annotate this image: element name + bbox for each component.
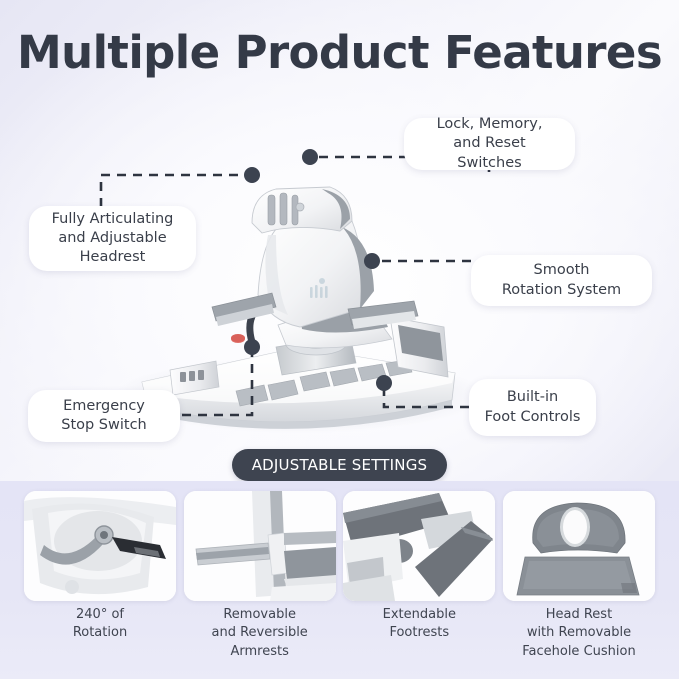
callout-rotation-system[interactable]: Smooth Rotation System: [471, 255, 652, 306]
caption-line-3: Armrests: [184, 643, 336, 661]
marker-dot-emergency: [244, 339, 260, 355]
marker-dot-foot: [376, 375, 392, 391]
callout-foot-controls[interactable]: Built-in Foot Controls: [469, 379, 596, 436]
banner-label: ADJUSTABLE SETTINGS: [252, 456, 428, 474]
callout-line-1: Emergency: [61, 397, 147, 416]
callout-line-2: and Adjustable: [52, 229, 174, 248]
headrest: [252, 187, 352, 233]
callout-line-3: Headrest: [52, 248, 174, 267]
callout-line-1: Smooth: [502, 261, 621, 280]
callout-line-1: Built-in: [485, 388, 581, 407]
headrest-hinge: [268, 193, 298, 225]
infographic-page: Multiple Product Features: [0, 0, 679, 679]
callout-line-2: and Reset Switches: [419, 134, 560, 172]
caption-footrests: Extendable Footrests: [343, 606, 495, 661]
thumbnail-headrest-cushion[interactable]: [503, 491, 655, 601]
seat-rail: [284, 531, 336, 545]
caption-headrest: Head Rest with Removable Facehole Cushio…: [503, 606, 655, 661]
callout-line-2: Rotation System: [502, 281, 621, 300]
callout-line-2: Stop Switch: [61, 416, 147, 435]
caption-line-2: Rotation: [24, 624, 176, 642]
marker-dot-headrest: [244, 167, 260, 183]
caption-line-1: Head Rest: [503, 606, 655, 624]
caption-line-3: Facehole Cushion: [503, 643, 655, 661]
thumbnail-row: [0, 491, 679, 603]
callout-headrest[interactable]: Fully Articulating and Adjustable Headre…: [29, 206, 196, 271]
marker-dot-rotation: [364, 253, 380, 269]
thumbnail-captions: 240° of Rotation Removable and Reversibl…: [0, 606, 679, 661]
marker-dot-lock: [302, 149, 318, 165]
page-title: Multiple Product Features: [0, 26, 679, 79]
thumbnail-rotation-lock[interactable]: [24, 491, 176, 601]
callout-line-2: Foot Controls: [485, 408, 581, 427]
caption-line-1: Extendable: [343, 606, 495, 624]
thumbnail-armrest[interactable]: [184, 491, 336, 601]
callout-lock-memory-reset[interactable]: Lock, Memory, and Reset Switches: [404, 118, 575, 170]
caption-line-2: with Removable: [503, 624, 655, 642]
callout-line-1: Lock, Memory,: [419, 115, 560, 134]
adjustable-settings-banner[interactable]: ADJUSTABLE SETTINGS: [232, 449, 447, 481]
caption-rotation: 240° of Rotation: [24, 606, 176, 661]
callout-line-1: Fully Articulating: [52, 210, 174, 229]
caption-line-1: 240° of: [24, 606, 176, 624]
caption-line-1: Removable: [184, 606, 336, 624]
connector-headrest: [101, 175, 252, 207]
thumbnail-footrest[interactable]: [343, 491, 495, 601]
callout-emergency-stop[interactable]: Emergency Stop Switch: [28, 390, 180, 442]
caption-line-2: and Reversible: [184, 624, 336, 642]
caption-armrests: Removable and Reversible Armrests: [184, 606, 336, 661]
caption-line-2: Footrests: [343, 624, 495, 642]
